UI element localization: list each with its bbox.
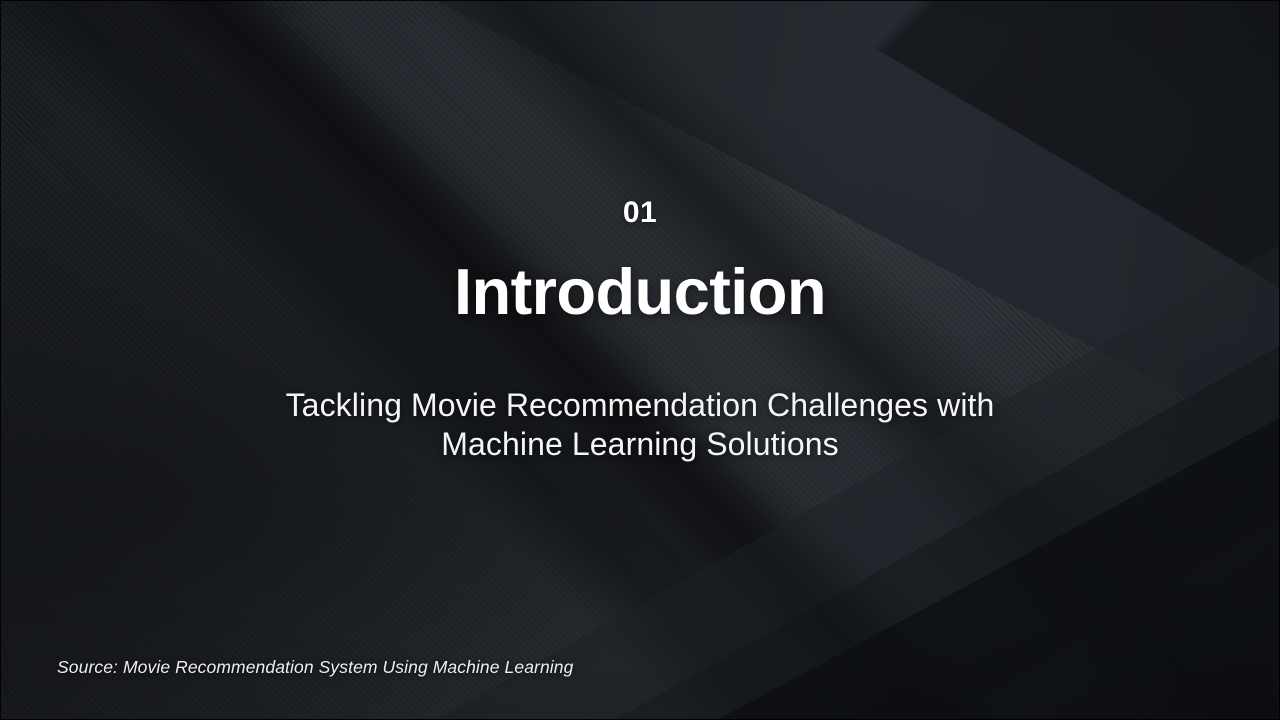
slide-subtitle: Tackling Movie Recommendation Challenges… — [240, 386, 1040, 464]
section-number: 01 — [0, 196, 1280, 230]
source-citation: Source: Movie Recommendation System Usin… — [57, 657, 573, 678]
slide-title: Introduction — [0, 258, 1280, 326]
slide-content: 01 Introduction Tackling Movie Recommend… — [0, 0, 1280, 720]
presentation-slide: 01 Introduction Tackling Movie Recommend… — [0, 0, 1280, 720]
